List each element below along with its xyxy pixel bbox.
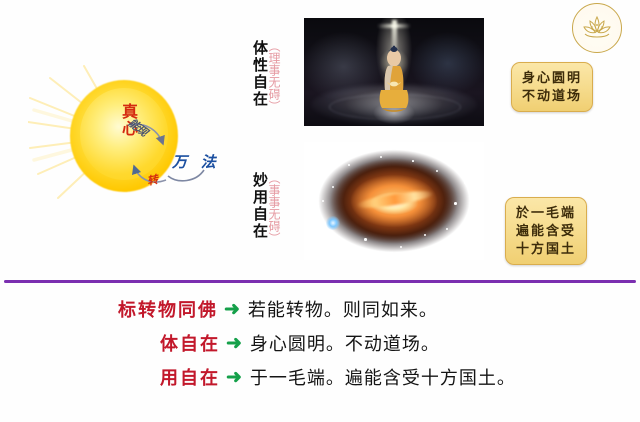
light-beam-cross (377, 24, 411, 28)
buddha-figure-icon (373, 44, 415, 118)
lotus-emblem-icon (572, 3, 622, 53)
callout-2-line-3: 十方国土 (516, 240, 576, 258)
callout-yu-yi-mao-duan: 於一毛端 遍能含受 十方国土 (505, 197, 587, 265)
summary-list: 标转物同佛 ➜ 若能转物。则同如来。 体自在 ➜ 身心圆明。不动道场。 用自在 … (0, 292, 640, 394)
summary-row-1: 标转物同佛 ➜ 若能转物。则同如来。 (0, 292, 640, 326)
summary-body-3: 于一毛端。遍能含受十方国土。 (250, 364, 516, 390)
myriad-dharmas-label: 万 法 (172, 151, 221, 172)
cycle-arrows-icon (100, 100, 230, 200)
vertical-main-miao-yong-zi-zai: 妙用自在 (250, 172, 267, 240)
arrow-right-icon: ➜ (224, 300, 240, 319)
vertical-note-shi-shi-wu-ai: （事事无碍） (267, 172, 280, 244)
summary-label-3: 用自在 (160, 364, 220, 390)
callout-2-line-2: 遍能含受 (516, 222, 576, 240)
summary-row-3: 用自在 ➜ 于一毛端。遍能含受十方国土。 (0, 360, 640, 394)
summary-body-2: 身心圆明。不动道场。 (250, 330, 440, 356)
summary-label-2: 体自在 (160, 330, 220, 356)
vertical-main-ti-xing-zi-zai: 体性自在 (250, 40, 267, 108)
callout-1-line-2: 不动道场 (522, 87, 582, 105)
vertical-note-li-shi-wu-ai: （理事无碍） (267, 40, 280, 112)
galaxy-image (304, 142, 484, 260)
buddha-meditating-image (304, 18, 484, 126)
vertical-label-ti-xing-zi-zai: （理事无碍） 体性自在 (250, 40, 281, 112)
blue-star (326, 216, 340, 230)
vertical-label-miao-yong-zi-zai: （事事无碍） 妙用自在 (250, 172, 281, 244)
summary-row-2: 体自在 ➜ 身心圆明。不动道场。 (0, 326, 640, 360)
callout-2-line-1: 於一毛端 (516, 204, 576, 222)
section-divider (4, 280, 636, 283)
arrow-right-icon: ➜ (226, 368, 242, 387)
summary-body-1: 若能转物。则同如来。 (248, 296, 438, 322)
slide-canvas: 真 心 能现 转 万 法 （理事无碍） 体性自在 （事事无碍） 妙用自在 (0, 0, 640, 422)
summary-label-1: 标转物同佛 (118, 296, 218, 322)
callout-1-line-1: 身心圆明 (522, 69, 582, 87)
callout-shen-xin-yuan-ming: 身心圆明 不动道场 (511, 62, 593, 112)
arrow-right-icon: ➜ (226, 334, 242, 353)
